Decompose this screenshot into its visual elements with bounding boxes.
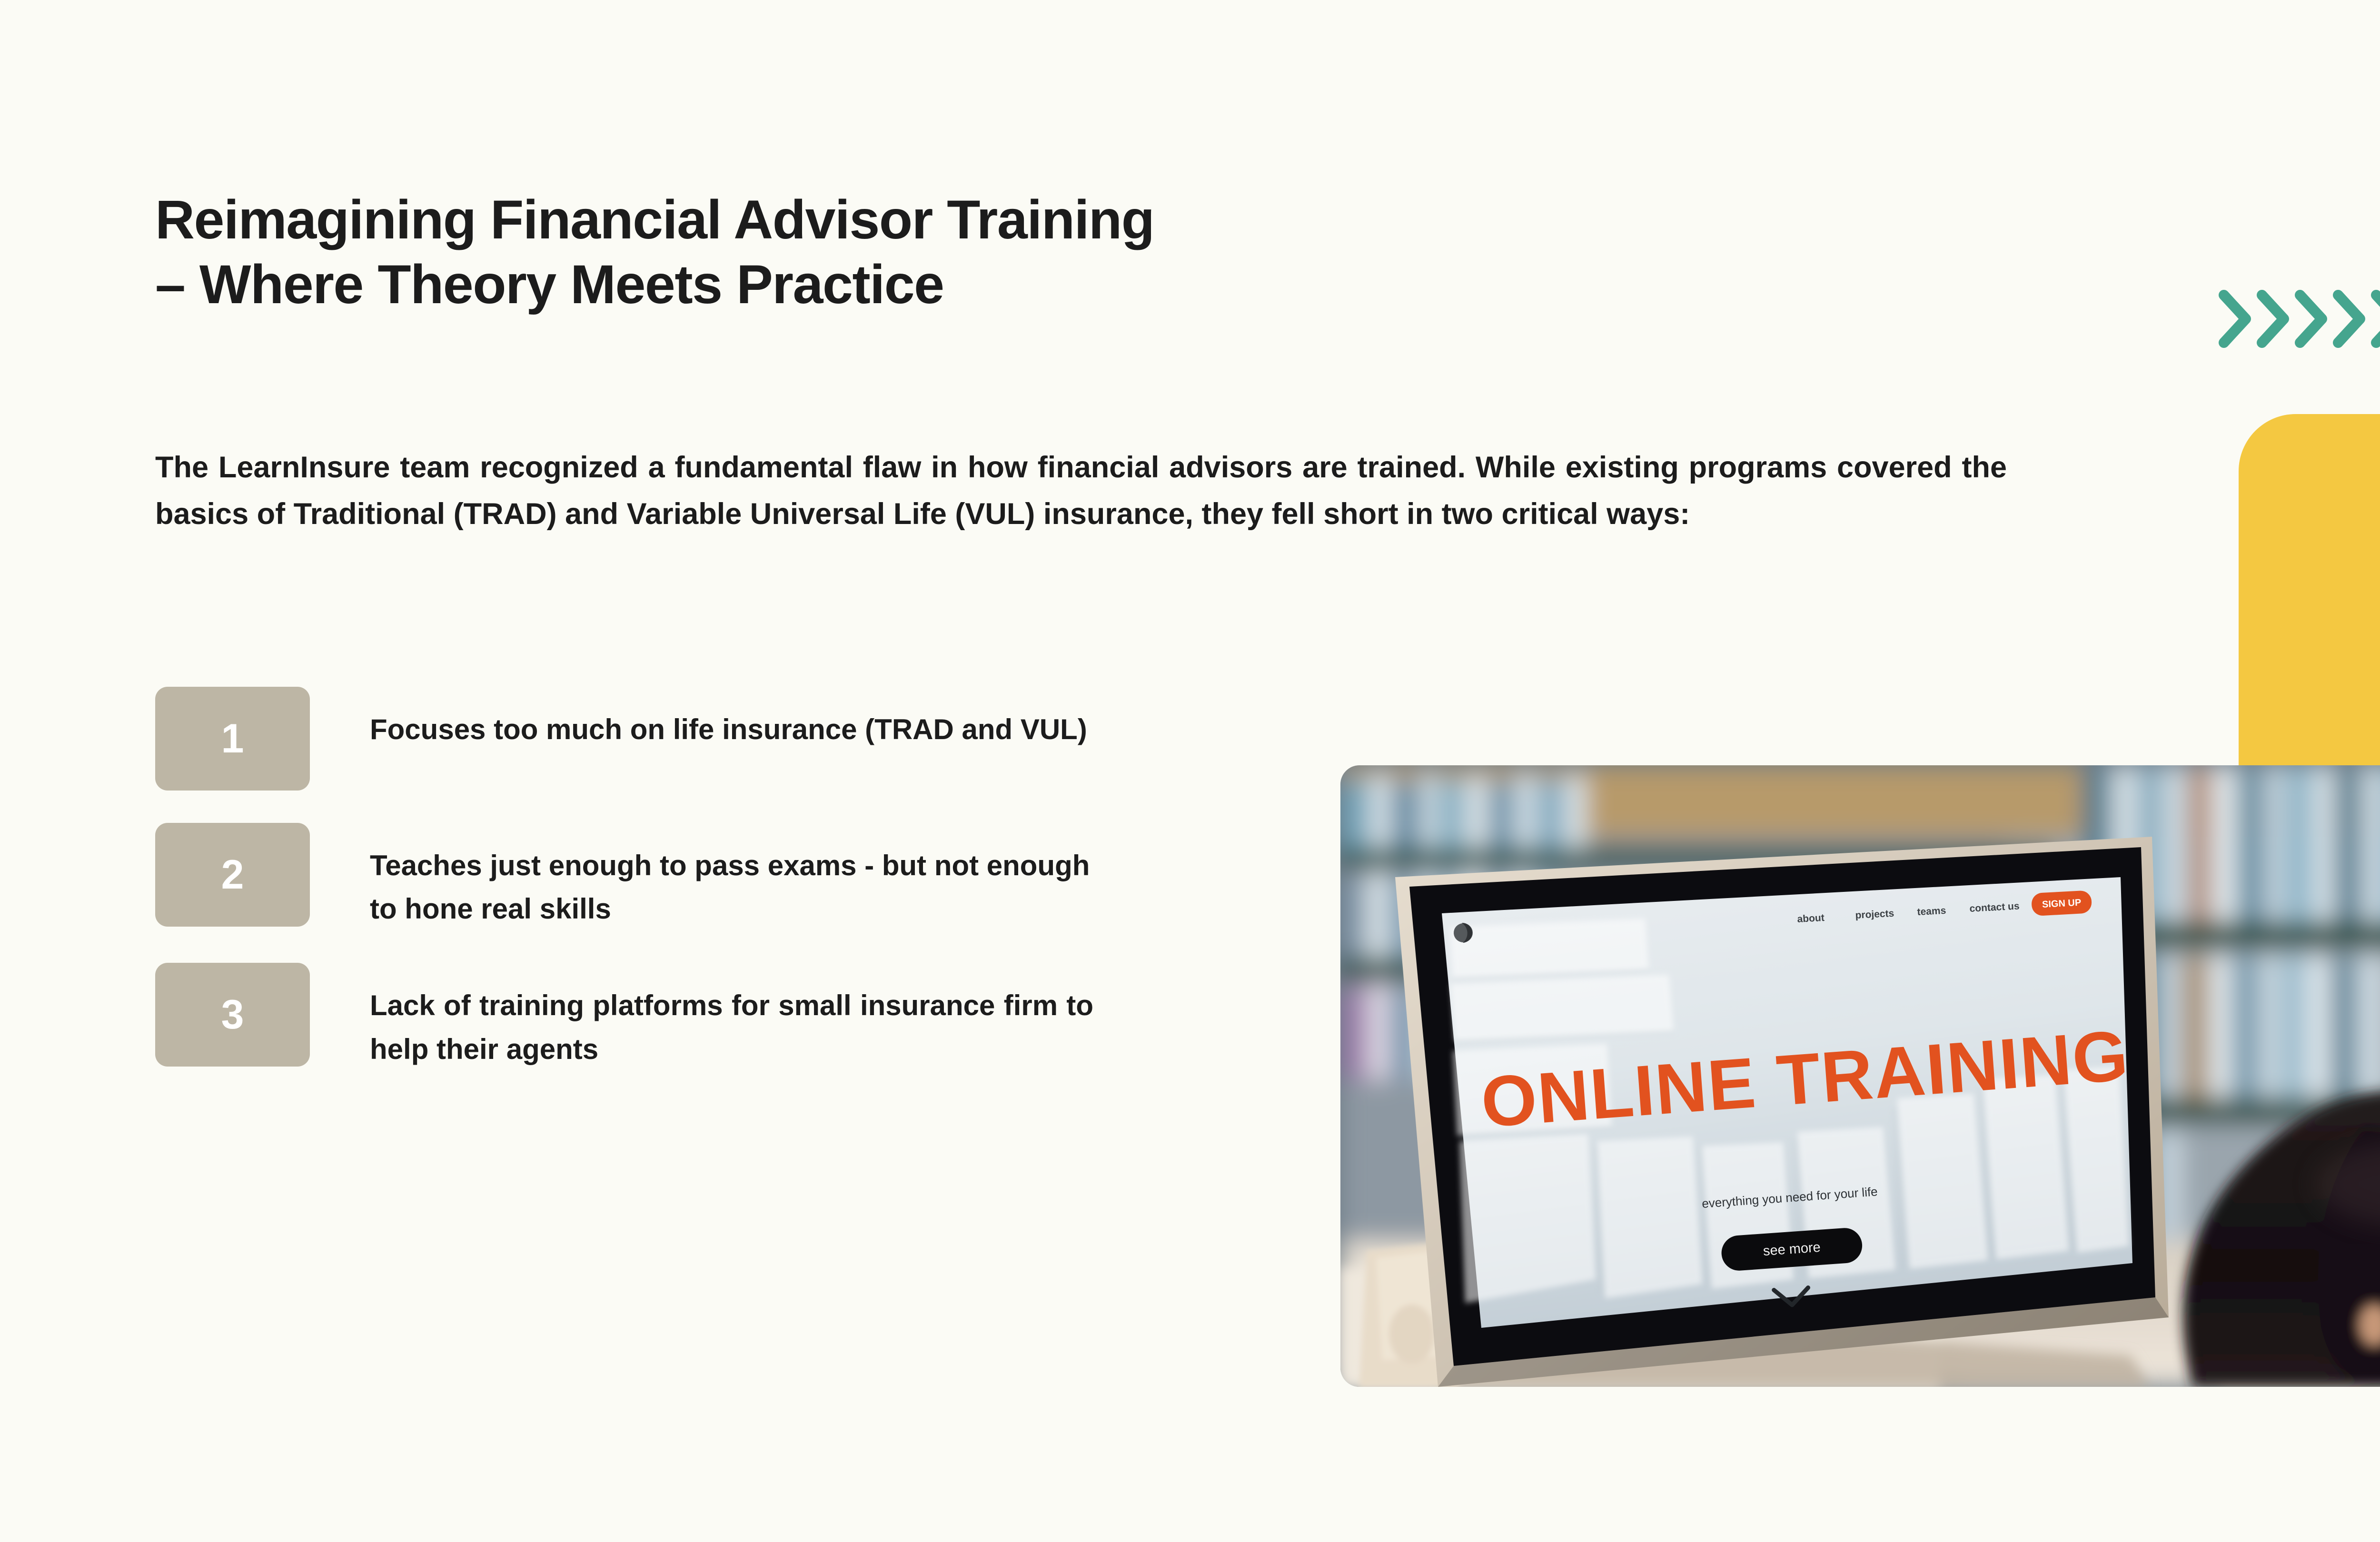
- problem-list: 1 Focuses too much on life insurance (TR…: [155, 687, 1107, 1103]
- list-item-label: Focuses too much on life insurance (TRAD…: [370, 708, 1093, 751]
- headline-line-2: – Where Theory Meets Practice: [155, 254, 944, 315]
- list-item: 2 Teaches just enough to pass exams - bu…: [155, 823, 1107, 930]
- screen-signup-button: SIGN UP: [2031, 890, 2092, 916]
- list-item-number-badge: 1: [155, 687, 310, 791]
- list-item-label: Lack of training platforms for small ins…: [370, 984, 1093, 1070]
- screen-nav-about: about: [1797, 912, 1825, 925]
- headline-line-1: Reimagining Financial Advisor Training: [155, 189, 1154, 250]
- list-item-label: Teaches just enough to pass exams - but …: [370, 844, 1093, 930]
- screen-nav-projects: projects: [1855, 908, 1894, 921]
- intro-paragraph: The LearnInsure team recognized a fundam…: [155, 444, 2007, 538]
- list-item: 3 Lack of training platforms for small i…: [155, 963, 1107, 1070]
- imac-monitor: about projects teams contact us SIGN UP …: [1359, 837, 2169, 1387]
- chevron-row-decoration: [2218, 286, 2380, 352]
- hero-photo: about projects teams contact us SIGN UP …: [1340, 765, 2380, 1387]
- list-item-number-badge: 3: [155, 963, 310, 1067]
- page-title: Reimagining Financial Advisor Training –…: [155, 188, 1916, 317]
- svg-text:SIGN UP: SIGN UP: [2042, 898, 2081, 910]
- list-item-number-badge: 2: [155, 823, 310, 927]
- list-item: 1 Focuses too much on life insurance (TR…: [155, 687, 1107, 791]
- screen-nav-teams: teams: [1917, 905, 1946, 918]
- chevrons-right-icon: [2218, 286, 2380, 352]
